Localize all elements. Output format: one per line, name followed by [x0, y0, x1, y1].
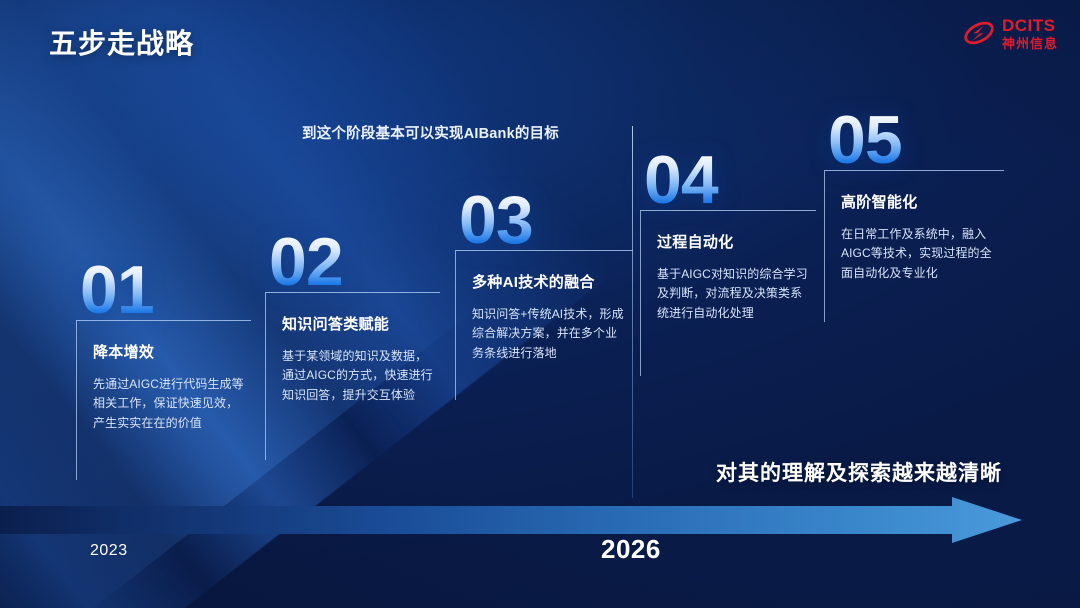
step-body: 基于AIGC对知识的综合学习及判断，对流程及决策类系统进行自动化处理	[657, 265, 810, 323]
step-body: 知识问答+传统AI技术，形成综合解决方案，并在多个业务条线进行落地	[472, 305, 627, 363]
step-card: 降本增效 先通过AIGC进行代码生成等相关工作，保证快速见效，产生实实在在的价值	[76, 320, 251, 480]
timeline-start-year: 2023	[90, 542, 128, 560]
step-number: 04	[644, 152, 816, 210]
step-card: 知识问答类赋能 基于某领域的知识及数据，通过AIGC的方式，快速进行知识回答，提…	[265, 292, 440, 460]
step-body: 先通过AIGC进行代码生成等相关工作，保证快速见效，产生实实在在的价值	[93, 375, 245, 433]
step-number: 03	[459, 192, 633, 250]
dcits-swoosh-icon	[962, 16, 996, 50]
logo-english: DCITS	[1002, 17, 1058, 34]
step-number: 02	[269, 234, 440, 292]
step-heading: 多种AI技术的融合	[472, 271, 627, 292]
step-item-01[interactable]: 01 降本增效 先通过AIGC进行代码生成等相关工作，保证快速见效，产生实实在在…	[76, 262, 251, 480]
step-body: 在日常工作及系统中，融入AIGC等技术，实现过程的全面自动化及专业化	[841, 225, 998, 283]
step-heading: 过程自动化	[657, 231, 810, 252]
tagline-text: 对其的理解及探索越来越清晰	[716, 457, 1002, 487]
step-card: 多种AI技术的融合 知识问答+传统AI技术，形成综合解决方案，并在多个业务条线进…	[455, 250, 633, 400]
step-item-02[interactable]: 02 知识问答类赋能 基于某领域的知识及数据，通过AIGC的方式，快速进行知识回…	[265, 234, 440, 460]
step-item-04[interactable]: 04 过程自动化 基于AIGC对知识的综合学习及判断，对流程及决策类系统进行自动…	[640, 152, 816, 376]
step-heading: 知识问答类赋能	[282, 313, 434, 334]
logo-wordmark: DCITS 神州信息	[1002, 17, 1058, 50]
brand-logo: DCITS 神州信息	[962, 16, 1058, 50]
timeline-arrow	[0, 497, 1022, 543]
timeline-end-year: 2026	[601, 534, 661, 565]
step-item-03[interactable]: 03 多种AI技术的融合 知识问答+传统AI技术，形成综合解决方案，并在多个业务…	[455, 192, 633, 400]
slide-canvas: 五步走战略 DCITS 神州信息 到这个阶段基本可以实现AIBank的目标 01…	[0, 0, 1080, 608]
step-card: 过程自动化 基于AIGC对知识的综合学习及判断，对流程及决策类系统进行自动化处理	[640, 210, 816, 376]
step-item-05[interactable]: 05 高阶智能化 在日常工作及系统中，融入AIGC等技术，实现过程的全面自动化及…	[824, 112, 1004, 322]
step-heading: 高阶智能化	[841, 191, 998, 212]
page-title: 五步走战略	[49, 22, 194, 62]
step-card: 高阶智能化 在日常工作及系统中，融入AIGC等技术，实现过程的全面自动化及专业化	[824, 170, 1004, 322]
step-heading: 降本增效	[93, 341, 245, 362]
timeline-arrow-icon	[0, 497, 1022, 543]
step-number: 01	[80, 262, 251, 320]
stage-annotation: 到这个阶段基本可以实现AIBank的目标	[302, 122, 559, 143]
step-body: 基于某领域的知识及数据，通过AIGC的方式，快速进行知识回答，提升交互体验	[282, 347, 434, 405]
step-number: 05	[828, 112, 1004, 170]
logo-chinese: 神州信息	[1002, 37, 1058, 50]
